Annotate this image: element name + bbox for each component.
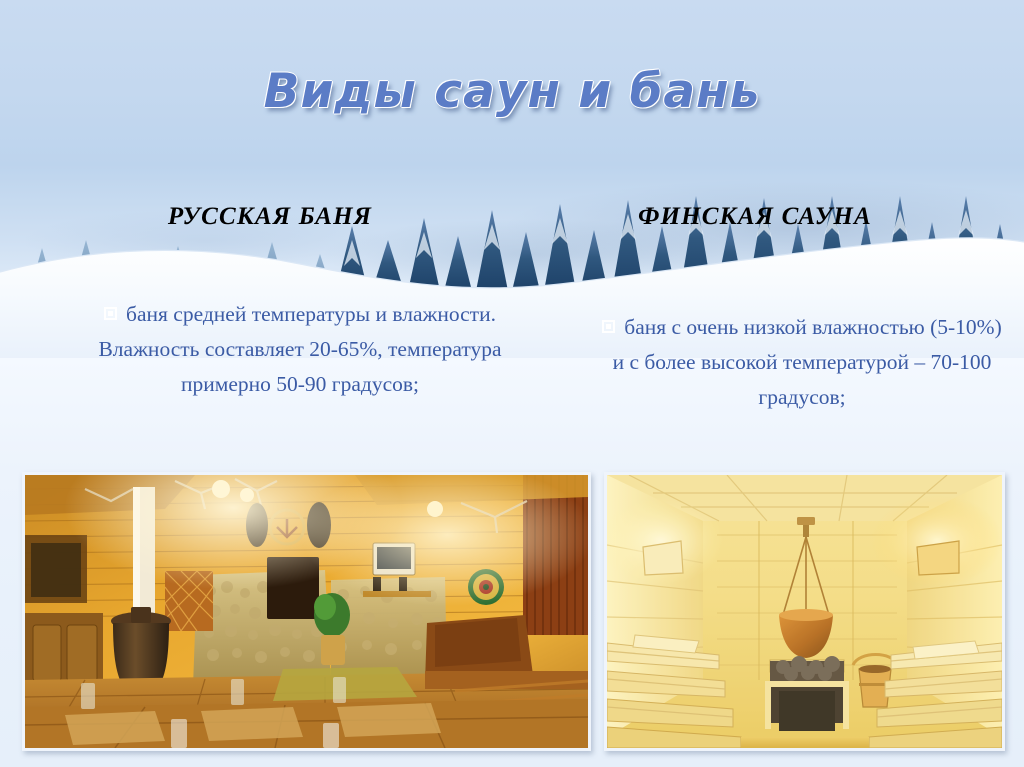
russian-banya-interior-photo [22, 472, 591, 751]
square-bullet-icon [104, 307, 117, 320]
bullet-text-russian-banya: баня средней температуры и влажности. Вл… [98, 302, 501, 396]
presentation-slide: Виды саун и бань РУССКАЯ БАНЯ ФИНСКАЯ СА… [0, 0, 1024, 767]
bullet-text-finnish-sauna: баня с очень низкой влажностью (5-10%) и… [613, 315, 1002, 409]
bullet-list-finnish-sauna: баня с очень низкой влажностью (5-10%) и… [600, 310, 1004, 415]
finnish-sauna-interior-photo [604, 472, 1005, 751]
bullet-list-russian-banya: баня средней температуры и влажности. Вл… [84, 297, 516, 402]
square-bullet-icon [602, 320, 615, 333]
column-heading-finnish-sauna: ФИНСКАЯ САУНА [545, 203, 965, 231]
slide-title: Виды саун и бань [0, 64, 1024, 119]
column-heading-russian-banya: РУССКАЯ БАНЯ [60, 203, 480, 231]
